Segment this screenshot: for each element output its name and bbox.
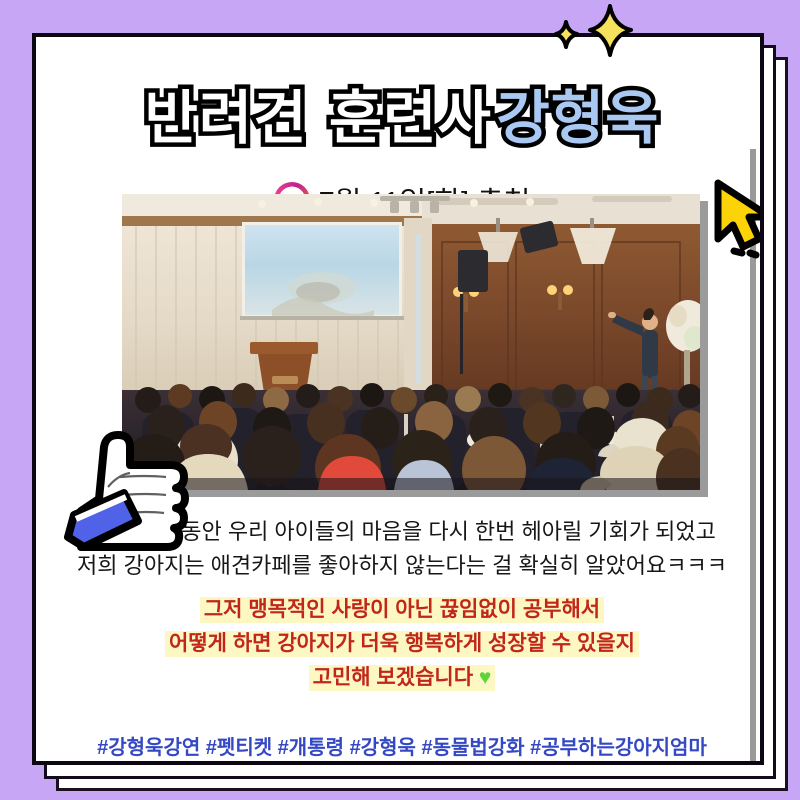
body-plain-line-1: 짧은 시간 동안 우리 아이들의 마음을 다시 한번 헤아릴 기회가 되었고	[36, 515, 764, 549]
hashtag-list[interactable]: #강형욱강연 #펫티켓 #개통령 #강형욱 #동물법강화 #공부하는강아지엄마	[36, 731, 764, 760]
lecture-photo-illustration	[122, 194, 700, 490]
highlight-text-1: 그저 맹목적인 사랑이 아닌 끊임없이 공부해서	[200, 597, 604, 623]
lecture-photo-frame	[122, 194, 700, 490]
highlight-text-2: 어떻게 하면 강아지가 더욱 행복하게 성장할 수 있을지	[165, 631, 639, 657]
page-title: 반려견 훈련사 강형욱	[36, 89, 764, 147]
main-card: 반려견 훈련사 강형욱 macaron 7월 11일[화] 춘천	[32, 33, 764, 765]
title-segment-role: 반려견 훈련사	[145, 89, 492, 147]
body-highlight-line-3: 고민해 보겠습니다 ♥	[36, 661, 764, 695]
body-plain-line-2: 저희 강아지는 애견카페를 좋아하지 않는다는 걸 확실히 알았어요ㅋㅋㅋ	[36, 549, 764, 583]
body-copy: 짧은 시간 동안 우리 아이들의 마음을 다시 한번 헤아릴 기회가 되었고 저…	[36, 515, 764, 695]
green-heart-icon: ♥	[479, 666, 491, 689]
scrollbar[interactable]	[750, 149, 756, 765]
body-highlight-line-1: 그저 맹목적인 사랑이 아닌 끊임없이 공부해서	[36, 593, 764, 627]
highlight-block: 그저 맹목적인 사랑이 아닌 끊임없이 공부해서 어떻게 하면 강아지가 더욱 …	[36, 593, 764, 695]
highlight-text-3-label: 고민해 보겠습니다	[313, 666, 473, 689]
lecture-photo	[122, 194, 700, 490]
title-segment-name: 강형욱	[496, 89, 659, 147]
highlight-text-3: 고민해 보겠습니다 ♥	[309, 665, 496, 691]
body-highlight-line-2: 어떻게 하면 강아지가 더욱 행복하게 성장할 수 있을지	[36, 627, 764, 661]
